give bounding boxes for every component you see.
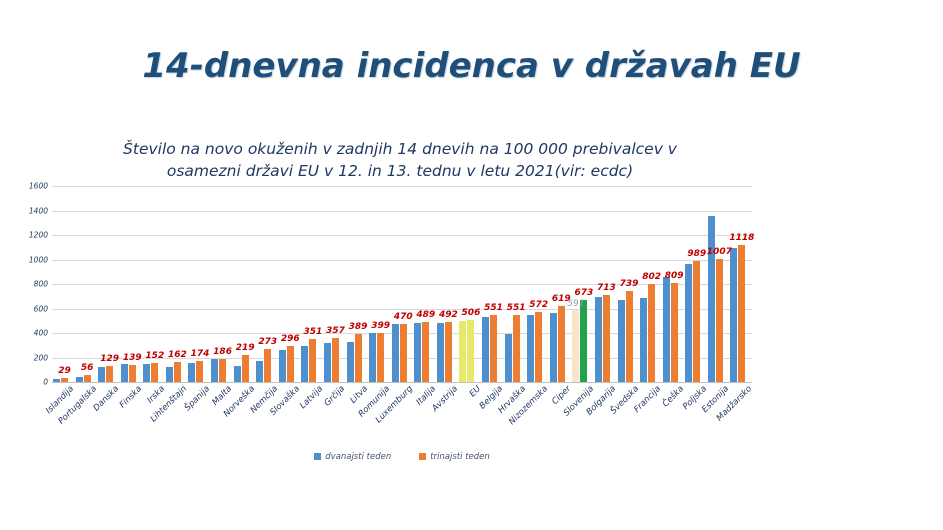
bar-data-label: 1007 xyxy=(707,247,732,257)
page-title: 14-dnevna incidenca v državah EU xyxy=(0,46,943,86)
bar-data-label: 389 xyxy=(349,322,368,332)
bar-group[interactable] xyxy=(526,186,549,382)
bar-data-label: 399 xyxy=(371,321,390,331)
y-axis-tick-label: 1600 xyxy=(8,182,48,191)
bar-group[interactable] xyxy=(707,186,730,382)
bar-data-label: 273 xyxy=(258,337,277,347)
bar-data-label: 174 xyxy=(191,349,210,359)
bar-group[interactable] xyxy=(662,186,685,382)
bar-data-label: 739 xyxy=(620,279,639,289)
bar-group[interactable] xyxy=(323,186,346,382)
bar-week12[interactable] xyxy=(482,317,489,382)
bar-group[interactable] xyxy=(346,186,369,382)
x-axis-label-text: EU xyxy=(468,384,483,399)
bar-data-label: 29 xyxy=(58,366,71,376)
bar-data-label: 591 xyxy=(567,299,584,309)
bar-data-label: 506 xyxy=(462,308,481,318)
legend-swatch-icon xyxy=(314,453,321,460)
bar-week13[interactable] xyxy=(738,245,745,382)
bar-data-label: 357 xyxy=(326,326,345,336)
slide-canvas: 14-dnevna incidenca v državah EU Število… xyxy=(0,0,943,530)
y-axis-tick-label: 0 xyxy=(8,378,48,387)
bar-data-label: 572 xyxy=(529,300,548,310)
bar-data-label: 492 xyxy=(439,310,458,320)
y-axis-tick-label: 600 xyxy=(8,304,48,313)
bar-data-label: 713 xyxy=(597,283,616,293)
bar-group[interactable] xyxy=(255,186,278,382)
chart-subtitle: Število na novo okuženih v zadnjih 14 dn… xyxy=(90,138,710,183)
legend-label: dvanajsti teden xyxy=(325,452,391,462)
y-axis-tick-label: 400 xyxy=(8,329,48,338)
bar-week13[interactable] xyxy=(61,378,68,382)
y-axis-tick-label: 1200 xyxy=(8,231,48,240)
bar-group[interactable] xyxy=(75,186,98,382)
bar-week12[interactable] xyxy=(640,298,647,382)
legend-item[interactable]: dvanajsti teden xyxy=(314,452,391,462)
bar-group[interactable] xyxy=(549,186,572,382)
bar-group[interactable] xyxy=(684,186,707,382)
bar-group[interactable] xyxy=(300,186,323,382)
legend-swatch-icon xyxy=(419,453,426,460)
bar-week12[interactable] xyxy=(53,379,60,382)
x-axis-labels: IslandijaPortugalskaDanskaFinskaIrskaLih… xyxy=(52,384,752,448)
bar-group[interactable] xyxy=(458,186,481,382)
bar-week13[interactable] xyxy=(490,315,497,382)
legend-label: trinajsti teden xyxy=(430,452,490,462)
bar-data-label: 809 xyxy=(665,271,684,281)
y-axis-tick-label: 1400 xyxy=(8,206,48,215)
bar-group[interactable] xyxy=(52,186,75,382)
bar-week12[interactable] xyxy=(685,264,692,382)
bar-group[interactable] xyxy=(729,186,752,382)
bar-group[interactable] xyxy=(639,186,662,382)
bar-group[interactable] xyxy=(368,186,391,382)
x-axis-label: Madžarsko xyxy=(747,352,786,391)
bar-week12[interactable] xyxy=(730,248,737,382)
bar-week12[interactable] xyxy=(595,297,602,382)
bar-chart: 02004006008001000120014001600 2956129139… xyxy=(8,186,760,468)
bar-data-label: 162 xyxy=(168,350,187,360)
chart-legend: dvanajsti tedentrinajsti teden xyxy=(52,448,752,466)
subtitle-line-2: osamezni državi EU v 12. in 13. tednu v … xyxy=(90,160,710,182)
bar-data-label: 296 xyxy=(281,334,300,344)
bar-data-label: 1118 xyxy=(729,233,754,243)
bar-group[interactable] xyxy=(97,186,120,382)
bar-group[interactable] xyxy=(504,186,527,382)
bar-data-label: 802 xyxy=(642,272,661,282)
bar-group[interactable] xyxy=(278,186,301,382)
bar-group[interactable] xyxy=(413,186,436,382)
bar-week13[interactable] xyxy=(693,261,700,382)
bar-data-label: 989 xyxy=(687,249,706,259)
y-axis-tick-label: 800 xyxy=(8,280,48,289)
bar-group[interactable] xyxy=(481,186,504,382)
bar-data-label: 351 xyxy=(303,327,322,337)
bar-data-label: 673 xyxy=(574,288,593,298)
bar-group[interactable] xyxy=(391,186,414,382)
legend-item[interactable]: trinajsti teden xyxy=(419,452,490,462)
bar-data-label: 219 xyxy=(236,343,255,353)
y-axis-tick-label: 1000 xyxy=(8,255,48,264)
bar-week12[interactable] xyxy=(708,216,715,382)
bar-data-label: 489 xyxy=(416,310,435,320)
subtitle-line-1: Število na novo okuženih v zadnjih 14 dn… xyxy=(90,138,710,160)
bar-series-container: 2956129139152162174186219273296351357389… xyxy=(52,186,752,382)
bar-data-label: 152 xyxy=(145,351,164,361)
bar-data-label: 551 xyxy=(507,303,526,313)
y-axis-tick-label: 200 xyxy=(8,353,48,362)
bar-data-label: 470 xyxy=(394,312,413,322)
bar-data-label: 551 xyxy=(484,303,503,313)
